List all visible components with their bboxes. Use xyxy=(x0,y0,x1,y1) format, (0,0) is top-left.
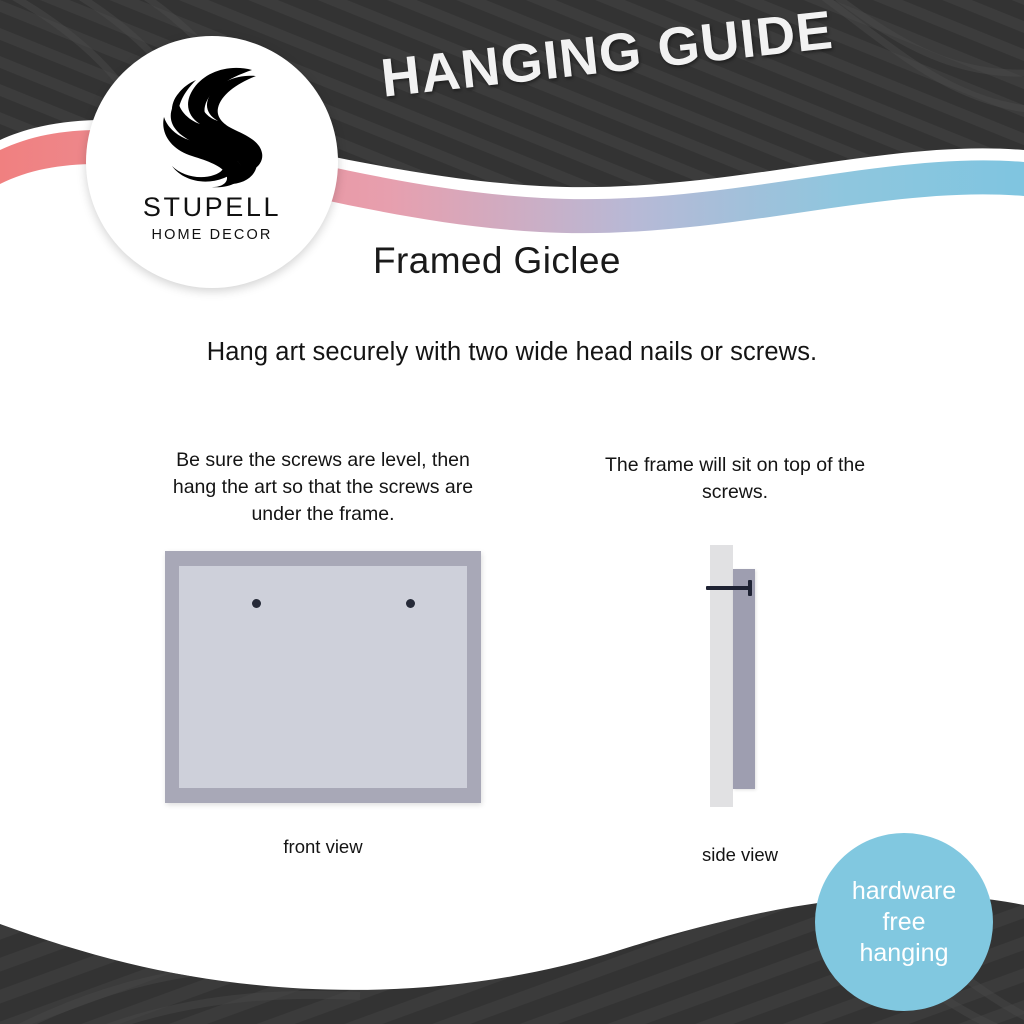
side-view-wall xyxy=(710,545,733,807)
front-view-caption: Be sure the screws are level, then hang … xyxy=(163,447,483,528)
side-view-frame-diagram xyxy=(710,545,790,807)
screw-dot-left-icon xyxy=(252,599,261,608)
product-type-heading: Framed Giclee xyxy=(373,240,621,282)
badge-line-2: free xyxy=(882,907,925,938)
badge-line-1: hardware xyxy=(852,876,956,907)
hardware-free-hanging-badge: hardware free hanging xyxy=(815,833,993,1011)
side-view-caption: The frame will sit on top of the screws. xyxy=(602,452,868,506)
logo-subwordmark: HOME DECOR xyxy=(152,228,273,243)
badge-line-3: hanging xyxy=(860,938,949,969)
page-title: HANGING GUIDE xyxy=(378,0,836,110)
main-instruction-text: Hang art securely with two wide head nai… xyxy=(0,338,1024,367)
nail-shaft-icon xyxy=(706,586,750,590)
front-view-frame-diagram xyxy=(165,551,481,803)
nail-head-icon xyxy=(748,580,752,596)
front-view-frame-interior xyxy=(179,566,467,788)
hanging-guide-page: STUPELL HOME DECOR HANGING GUIDE Framed … xyxy=(0,0,1024,1024)
front-view-label: front view xyxy=(163,836,483,858)
stupell-logo-badge: STUPELL HOME DECOR xyxy=(86,36,338,288)
logo-wordmark: STUPELL xyxy=(143,194,281,221)
side-view-frame xyxy=(733,569,755,789)
side-view-label: side view xyxy=(630,844,850,866)
stupell-swoosh-logo xyxy=(160,62,264,188)
screw-dot-right-icon xyxy=(406,599,415,608)
